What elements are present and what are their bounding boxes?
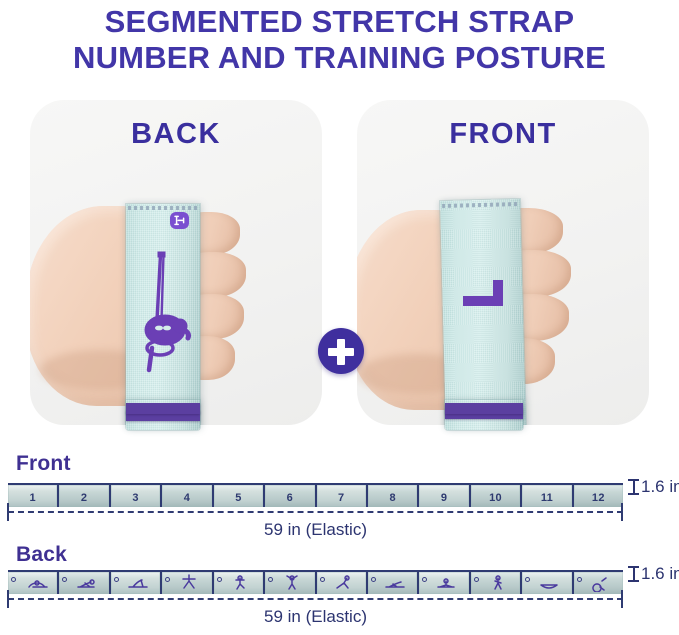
strap-end-band-back-tail [126,403,200,414]
segment-number: 2 [81,493,87,504]
supine-leg-pull-icon [380,571,410,594]
segment-number-circle-icon [422,577,427,582]
lying-leg-raise-icon [123,571,153,594]
plus-icon [318,328,364,374]
strap-segment [520,570,571,594]
segment-number: 9 [441,493,447,504]
standing-forward-fold-icon [483,571,513,594]
seated-forward-bend-icon [20,571,50,594]
strap-segment: 2 [57,483,108,507]
length-dimension-line-front [8,511,623,513]
diagram-front: Front 123456789101112 59 in (Elastic) 1.… [0,452,679,552]
segment-number: 4 [184,493,190,504]
strap-segment: 12 [572,483,623,507]
segment-number-circle-icon [62,577,67,582]
segment-number-circle-icon [268,577,273,582]
height-label-back: 1.6 in [641,564,679,583]
title-line-1: SEGMENTED STRETCH STRAP [0,4,679,40]
strap-segment: 3 [109,483,160,507]
segment-number-circle-icon [11,577,16,582]
supine-hamstring-icon [534,571,564,594]
standing-quad-stretch-icon [225,571,255,594]
strap-segment [469,570,520,594]
strap-segment: 11 [520,483,571,507]
strap-segment [572,570,623,594]
page-title: SEGMENTED STRETCH STRAP NUMBER AND TRAIN… [0,4,679,76]
segment-number-circle-icon [114,577,119,582]
segment-number: 12 [592,493,605,504]
length-label-back: 59 in (Elastic) [8,607,623,627]
lunge-stretch-icon [328,571,358,594]
length-endcap-right-back [621,590,623,608]
segment-number: 8 [389,493,395,504]
length-endcap-right-front [621,503,623,521]
strap-tape-back [8,570,623,594]
height-label-front: 1.6 in [641,477,679,496]
panel-back: BACK [30,100,322,425]
segment-number: 3 [132,493,138,504]
length-endcap-left-back [7,590,9,608]
seated-leg-stretch-icon [71,571,101,594]
segment-number-circle-icon [217,577,222,582]
strap-segment: 9 [417,483,468,507]
segment-number-circle-icon [577,577,582,582]
loop-tag-icon [170,212,189,229]
segment-number: 11 [541,493,553,504]
segment-number-circle-icon [165,577,170,582]
strap-segment [417,570,468,594]
segment-number: 10 [489,493,502,504]
strap-segment: 6 [263,483,314,507]
strap-segment: 4 [160,483,211,507]
panel-front: FRONT [357,100,649,425]
segment-number-circle-icon [525,577,530,582]
strap-segment: 1 [8,483,57,507]
strap-end-band-front-tail [445,403,523,414]
strap-segment: 7 [315,483,366,507]
product-photo-panels: BACK [0,100,679,430]
height-dimension-front: 1.6 in [628,477,679,497]
height-dimension-back: 1.6 in [628,564,679,584]
height-ibeam-icon-back [628,565,639,583]
strap-segment: 10 [469,483,520,507]
panel-front-heading: FRONT [357,118,649,151]
diagram-back: Back 59 in (Elastic) 1.6 in [0,543,679,635]
height-ibeam-icon-front [628,478,639,496]
standing-side-stretch-icon [174,571,204,594]
segment-number: 1 [30,493,36,504]
segment-number: 7 [338,493,344,504]
segment-number-circle-icon [474,577,479,582]
seated-straddle-icon [431,571,461,594]
diagram-back-label: Back [16,543,67,567]
strap-segment [160,570,211,594]
strap-segment [8,570,57,594]
strap-segment [366,570,417,594]
numeral-7-icon [457,274,509,323]
length-dimension-line-back [8,598,623,600]
strap-segment [263,570,314,594]
segment-number: 5 [235,493,241,504]
diagram-front-label: Front [16,452,71,476]
overhead-arm-stretch-icon [277,571,307,594]
segment-number-circle-icon [371,577,376,582]
segment-number: 6 [287,493,293,504]
stretch-pose-pictogram-icon [134,248,192,379]
strap-segment: 5 [212,483,263,507]
length-label-front: 59 in (Elastic) [8,520,623,540]
strap-segment [212,570,263,594]
title-line-2: NUMBER AND TRAINING POSTURE [0,40,679,76]
shoulder-opener-icon [585,571,615,594]
strap-segment [315,570,366,594]
segment-number-circle-icon [320,577,325,582]
strap-segment [109,570,160,594]
strap-segment [57,570,108,594]
length-endcap-left-front [7,503,9,521]
strap-tape-front: 123456789101112 [8,483,623,507]
panel-back-heading: BACK [30,118,322,151]
strap-segment: 8 [366,483,417,507]
